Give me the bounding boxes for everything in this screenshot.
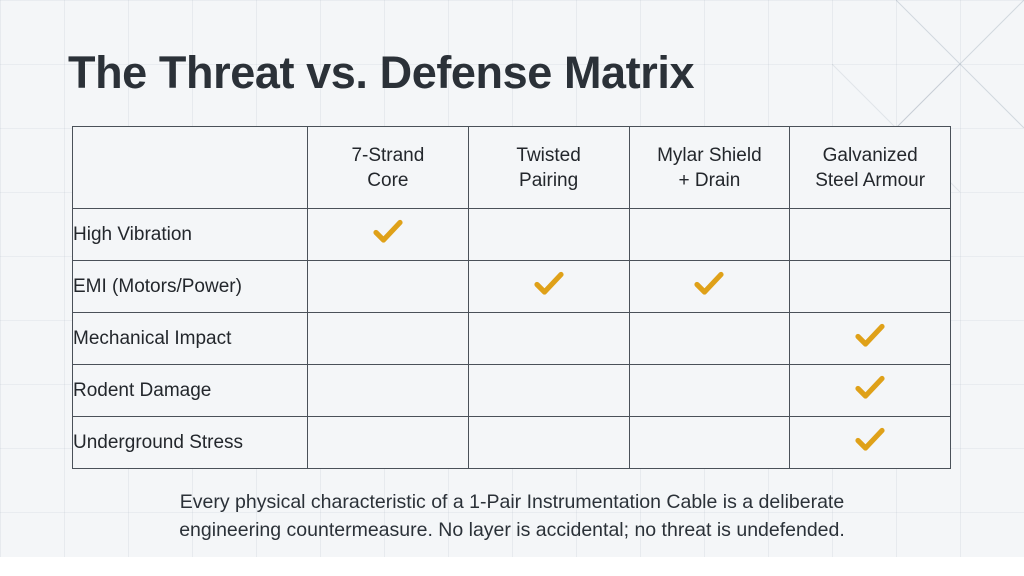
matrix-cell-r3-c2[interactable] — [629, 365, 790, 417]
matrix-corner-cell — [73, 127, 308, 209]
matrix-cell-r0-c0[interactable] — [308, 209, 469, 261]
matrix-header-row: 7-Strand Core Twisted Pairing Mylar Shie… — [73, 127, 951, 209]
column-header-3: Galvanized Steel Armour — [790, 127, 951, 209]
matrix-cell-r3-c1[interactable] — [468, 365, 629, 417]
check-icon — [855, 427, 885, 453]
matrix-cell-r1-c1[interactable] — [468, 261, 629, 313]
matrix-cell-r0-c2[interactable] — [629, 209, 790, 261]
bottom-white-strip — [0, 557, 1024, 576]
check-icon — [694, 271, 724, 297]
matrix-cell-r4-c2[interactable] — [629, 417, 790, 469]
threat-label-1: EMI (Motors/Power) — [73, 261, 308, 313]
column-header-0: 7-Strand Core — [308, 127, 469, 209]
slide-canvas: The Threat vs. Defense Matrix 7-Strand C… — [0, 0, 1024, 576]
matrix-cell-r4-c1[interactable] — [468, 417, 629, 469]
matrix-cell-r3-c0[interactable] — [308, 365, 469, 417]
matrix-cell-r4-c3[interactable] — [790, 417, 951, 469]
caption: Every physical characteristic of a 1-Pai… — [0, 488, 1024, 544]
matrix-cell-r1-c3[interactable] — [790, 261, 951, 313]
matrix-cell-r1-c0[interactable] — [308, 261, 469, 313]
column-header-1-line2: Pairing — [519, 170, 578, 191]
column-header-1-line1: Twisted — [516, 145, 580, 166]
table-row: High Vibration — [73, 209, 951, 261]
check-icon — [373, 219, 403, 245]
matrix-cell-r2-c0[interactable] — [308, 313, 469, 365]
matrix-cell-r0-c3[interactable] — [790, 209, 951, 261]
matrix-cell-r2-c3[interactable] — [790, 313, 951, 365]
table-row: Underground Stress — [73, 417, 951, 469]
matrix-cell-r4-c0[interactable] — [308, 417, 469, 469]
matrix-cell-r2-c2[interactable] — [629, 313, 790, 365]
column-header-3-line2: Steel Armour — [815, 170, 925, 191]
matrix-body: High VibrationEMI (Motors/Power)Mechanic… — [73, 209, 951, 469]
check-icon — [855, 323, 885, 349]
matrix-cell-r3-c3[interactable] — [790, 365, 951, 417]
column-header-2-line2: + Drain — [678, 170, 740, 191]
table-row: Mechanical Impact — [73, 313, 951, 365]
table-row: Rodent Damage — [73, 365, 951, 417]
matrix-cell-r0-c1[interactable] — [468, 209, 629, 261]
column-header-0-line2: Core — [367, 170, 408, 191]
matrix-cell-r1-c2[interactable] — [629, 261, 790, 313]
table-row: EMI (Motors/Power) — [73, 261, 951, 313]
column-header-1: Twisted Pairing — [468, 127, 629, 209]
column-header-0-line1: 7-Strand — [351, 145, 424, 166]
threat-label-3: Rodent Damage — [73, 365, 308, 417]
column-header-2-line1: Mylar Shield — [657, 145, 762, 166]
check-icon — [855, 375, 885, 401]
page-title: The Threat vs. Defense Matrix — [68, 47, 694, 99]
threat-label-0: High Vibration — [73, 209, 308, 261]
caption-line-1: Every physical characteristic of a 1-Pai… — [110, 488, 914, 516]
column-header-2: Mylar Shield + Drain — [629, 127, 790, 209]
matrix-table: 7-Strand Core Twisted Pairing Mylar Shie… — [72, 126, 951, 469]
threat-label-4: Underground Stress — [73, 417, 308, 469]
matrix-cell-r2-c1[interactable] — [468, 313, 629, 365]
caption-line-2: engineering countermeasure. No layer is … — [110, 516, 914, 544]
check-icon — [534, 271, 564, 297]
threat-label-2: Mechanical Impact — [73, 313, 308, 365]
column-header-3-line1: Galvanized — [823, 145, 918, 166]
threat-defense-matrix: 7-Strand Core Twisted Pairing Mylar Shie… — [72, 126, 950, 469]
background-x-decoration — [896, 0, 1024, 128]
